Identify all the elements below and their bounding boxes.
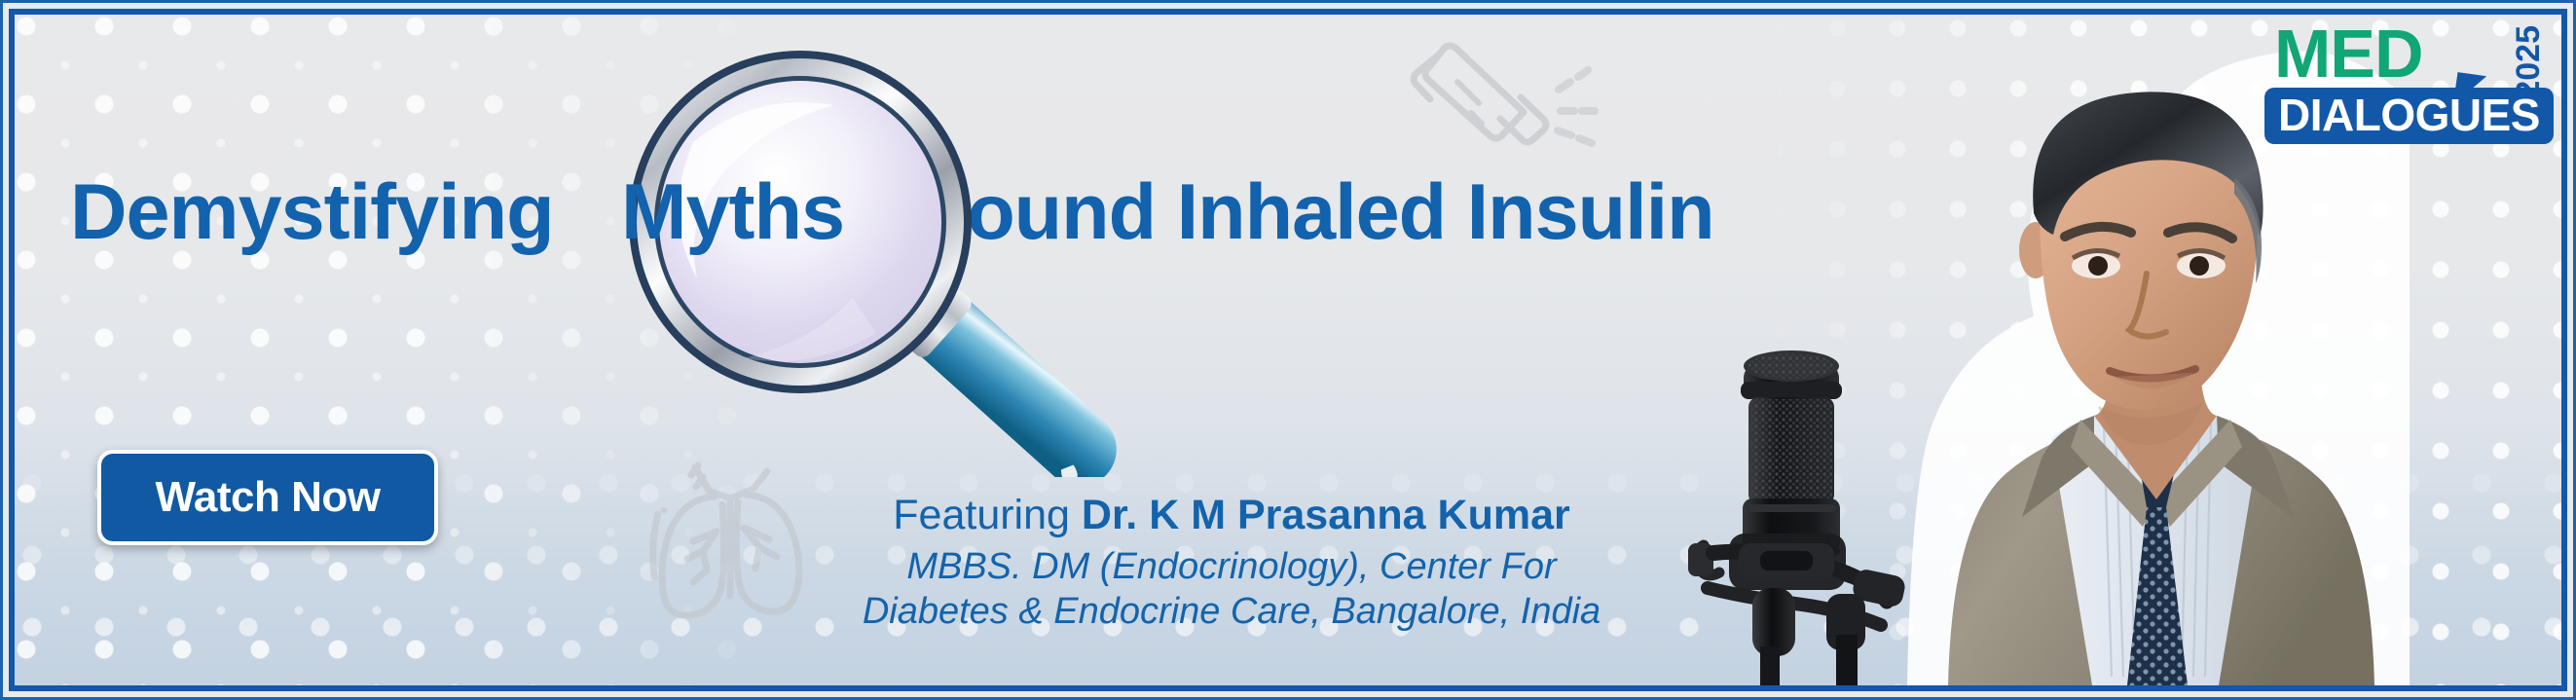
logo-brand-secondary: DIALOGUES bbox=[2264, 88, 2554, 144]
featuring-line: Featuring Dr. K M Prasanna Kumar bbox=[808, 492, 1655, 539]
watch-now-button[interactable]: Watch Now bbox=[97, 450, 438, 545]
inhaler-icon bbox=[1387, 21, 1611, 158]
featuring-lead-label: Featuring bbox=[893, 492, 1082, 538]
speaker-name: Dr. K M Prasanna Kumar bbox=[1082, 492, 1570, 538]
speaker-credentials-line-2: Diabetes & Endocrine Care, Bangalore, In… bbox=[808, 590, 1655, 635]
speaker-credentials: MBBS. DM (Endocrinology), Center For Dia… bbox=[808, 545, 1655, 634]
studio-microphone-icon bbox=[1645, 343, 1937, 685]
med-dialogues-logo: MED 2025 DIALOGUES bbox=[2264, 18, 2547, 149]
speaker-credentials-line-1: MBBS. DM (Endocrinology), Center For bbox=[808, 545, 1655, 590]
headline-prefix: Demystifying bbox=[70, 173, 554, 252]
featuring-block: Featuring Dr. K M Prasanna Kumar MBBS. D… bbox=[808, 492, 1655, 635]
promo-banner: Demystifying around Inhaled Insulin bbox=[0, 0, 2576, 700]
headline-suffix: around Inhaled Insulin bbox=[895, 173, 1714, 252]
logo-brand-primary: MED bbox=[2274, 19, 2423, 88]
headline-lens-word: Myths bbox=[621, 173, 844, 252]
page-title: Demystifying around Inhaled Insulin bbox=[70, 173, 1714, 252]
